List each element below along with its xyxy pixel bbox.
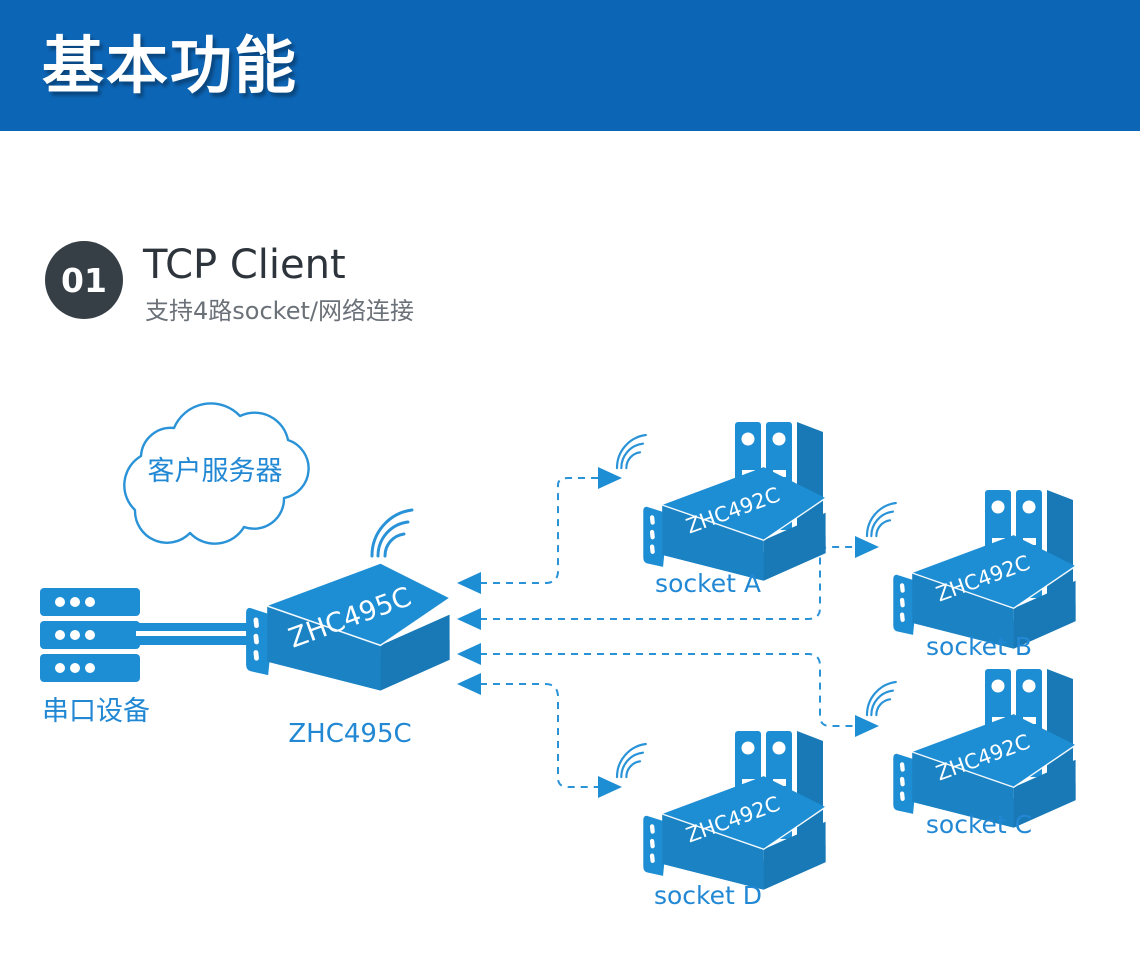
gateway-wifi-icon <box>372 510 412 556</box>
cloud-server: 客户服务器 <box>124 403 308 543</box>
socket-c-node: ZHC492C socket C <box>867 669 1076 839</box>
section-number-badge: 01 <box>45 241 123 319</box>
socket-c-label: socket C <box>926 810 1032 839</box>
socket-a-wifi-icon <box>617 435 646 468</box>
serial-device-label: 串口设备 <box>42 696 150 727</box>
serial-device: 串口设备 <box>40 588 150 727</box>
socket-d-node: ZHC492C socket D <box>617 731 826 910</box>
socket-c-wifi-icon <box>867 682 896 715</box>
socket-b-label: socket B <box>926 632 1032 661</box>
socket-a-node: ZHC492C socket A <box>617 422 826 598</box>
socket-d-wifi-icon <box>617 744 646 777</box>
header-banner: 基本功能 <box>0 0 1140 131</box>
cloud-label: 客户服务器 <box>148 456 283 487</box>
socket-b-node: ZHC492C socket B <box>867 490 1076 661</box>
section-subtitle: 支持4路socket/网络连接 <box>145 295 414 327</box>
page-title: 基本功能 <box>42 20 298 112</box>
socket-b-wifi-icon <box>867 503 896 536</box>
gateway-device: ZHC495C <box>246 564 450 691</box>
topology-diagram: 客户服务器 串口设备 ZHC495C <box>0 380 1140 940</box>
page-root: 基本功能 01 TCP Client 支持4路socket/网络连接 <box>0 0 1140 957</box>
section-heading: 01 TCP Client 支持4路socket/网络连接 <box>45 241 745 331</box>
link-socket-d <box>480 684 598 787</box>
gateway-label: ZHC495C <box>288 719 411 749</box>
section-title: TCP Client <box>143 239 346 291</box>
gateway-arrowheads <box>457 572 481 695</box>
link-socket-a <box>480 478 598 583</box>
socket-a-label: socket A <box>655 569 761 598</box>
socket-d-label: socket D <box>654 881 762 910</box>
link-socket-c <box>480 654 855 726</box>
